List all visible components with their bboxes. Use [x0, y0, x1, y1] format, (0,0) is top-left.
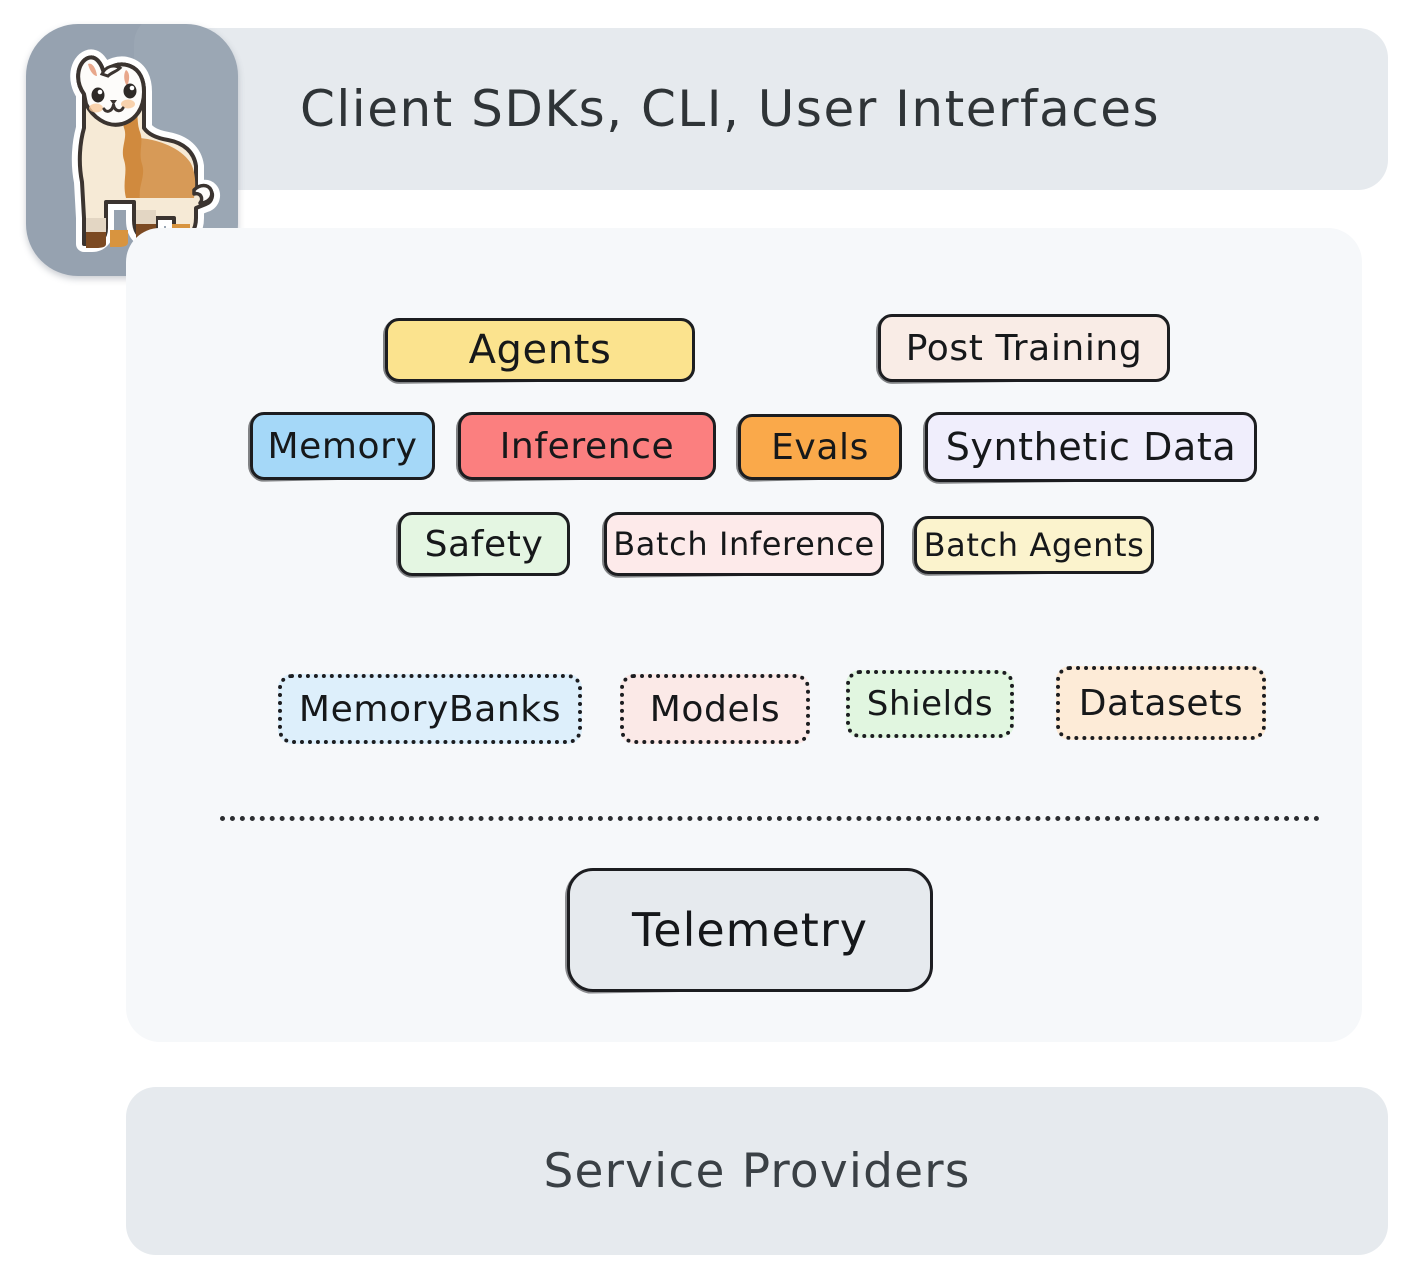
resource-box-datasets[interactable]: Datasets: [1056, 666, 1266, 740]
api-box-batch-agents[interactable]: Batch Agents: [914, 516, 1154, 574]
service-providers-title: Service Providers: [126, 1087, 1388, 1255]
telemetry-box[interactable]: Telemetry: [567, 868, 933, 992]
api-box-safety[interactable]: Safety: [398, 512, 570, 576]
api-box-memory[interactable]: Memory: [250, 412, 435, 480]
api-box-agents[interactable]: Agents: [385, 318, 695, 382]
api-box-inference[interactable]: Inference: [458, 412, 716, 480]
resource-box-shields[interactable]: Shields: [846, 670, 1014, 738]
resource-box-models[interactable]: Models: [620, 674, 810, 744]
api-box-evals[interactable]: Evals: [738, 414, 902, 480]
api-box-batch-inference[interactable]: Batch Inference: [604, 512, 884, 576]
section-divider: [220, 816, 1320, 821]
resource-box-memorybanks[interactable]: MemoryBanks: [278, 674, 582, 744]
api-box-post-training[interactable]: Post Training: [878, 314, 1170, 382]
diagram-canvas: Client SDKs, CLI, User Interfaces: [0, 0, 1410, 1268]
api-box-synthetic-data[interactable]: Synthetic Data: [925, 412, 1257, 482]
client-layer-title: Client SDKs, CLI, User Interfaces: [300, 28, 1380, 190]
